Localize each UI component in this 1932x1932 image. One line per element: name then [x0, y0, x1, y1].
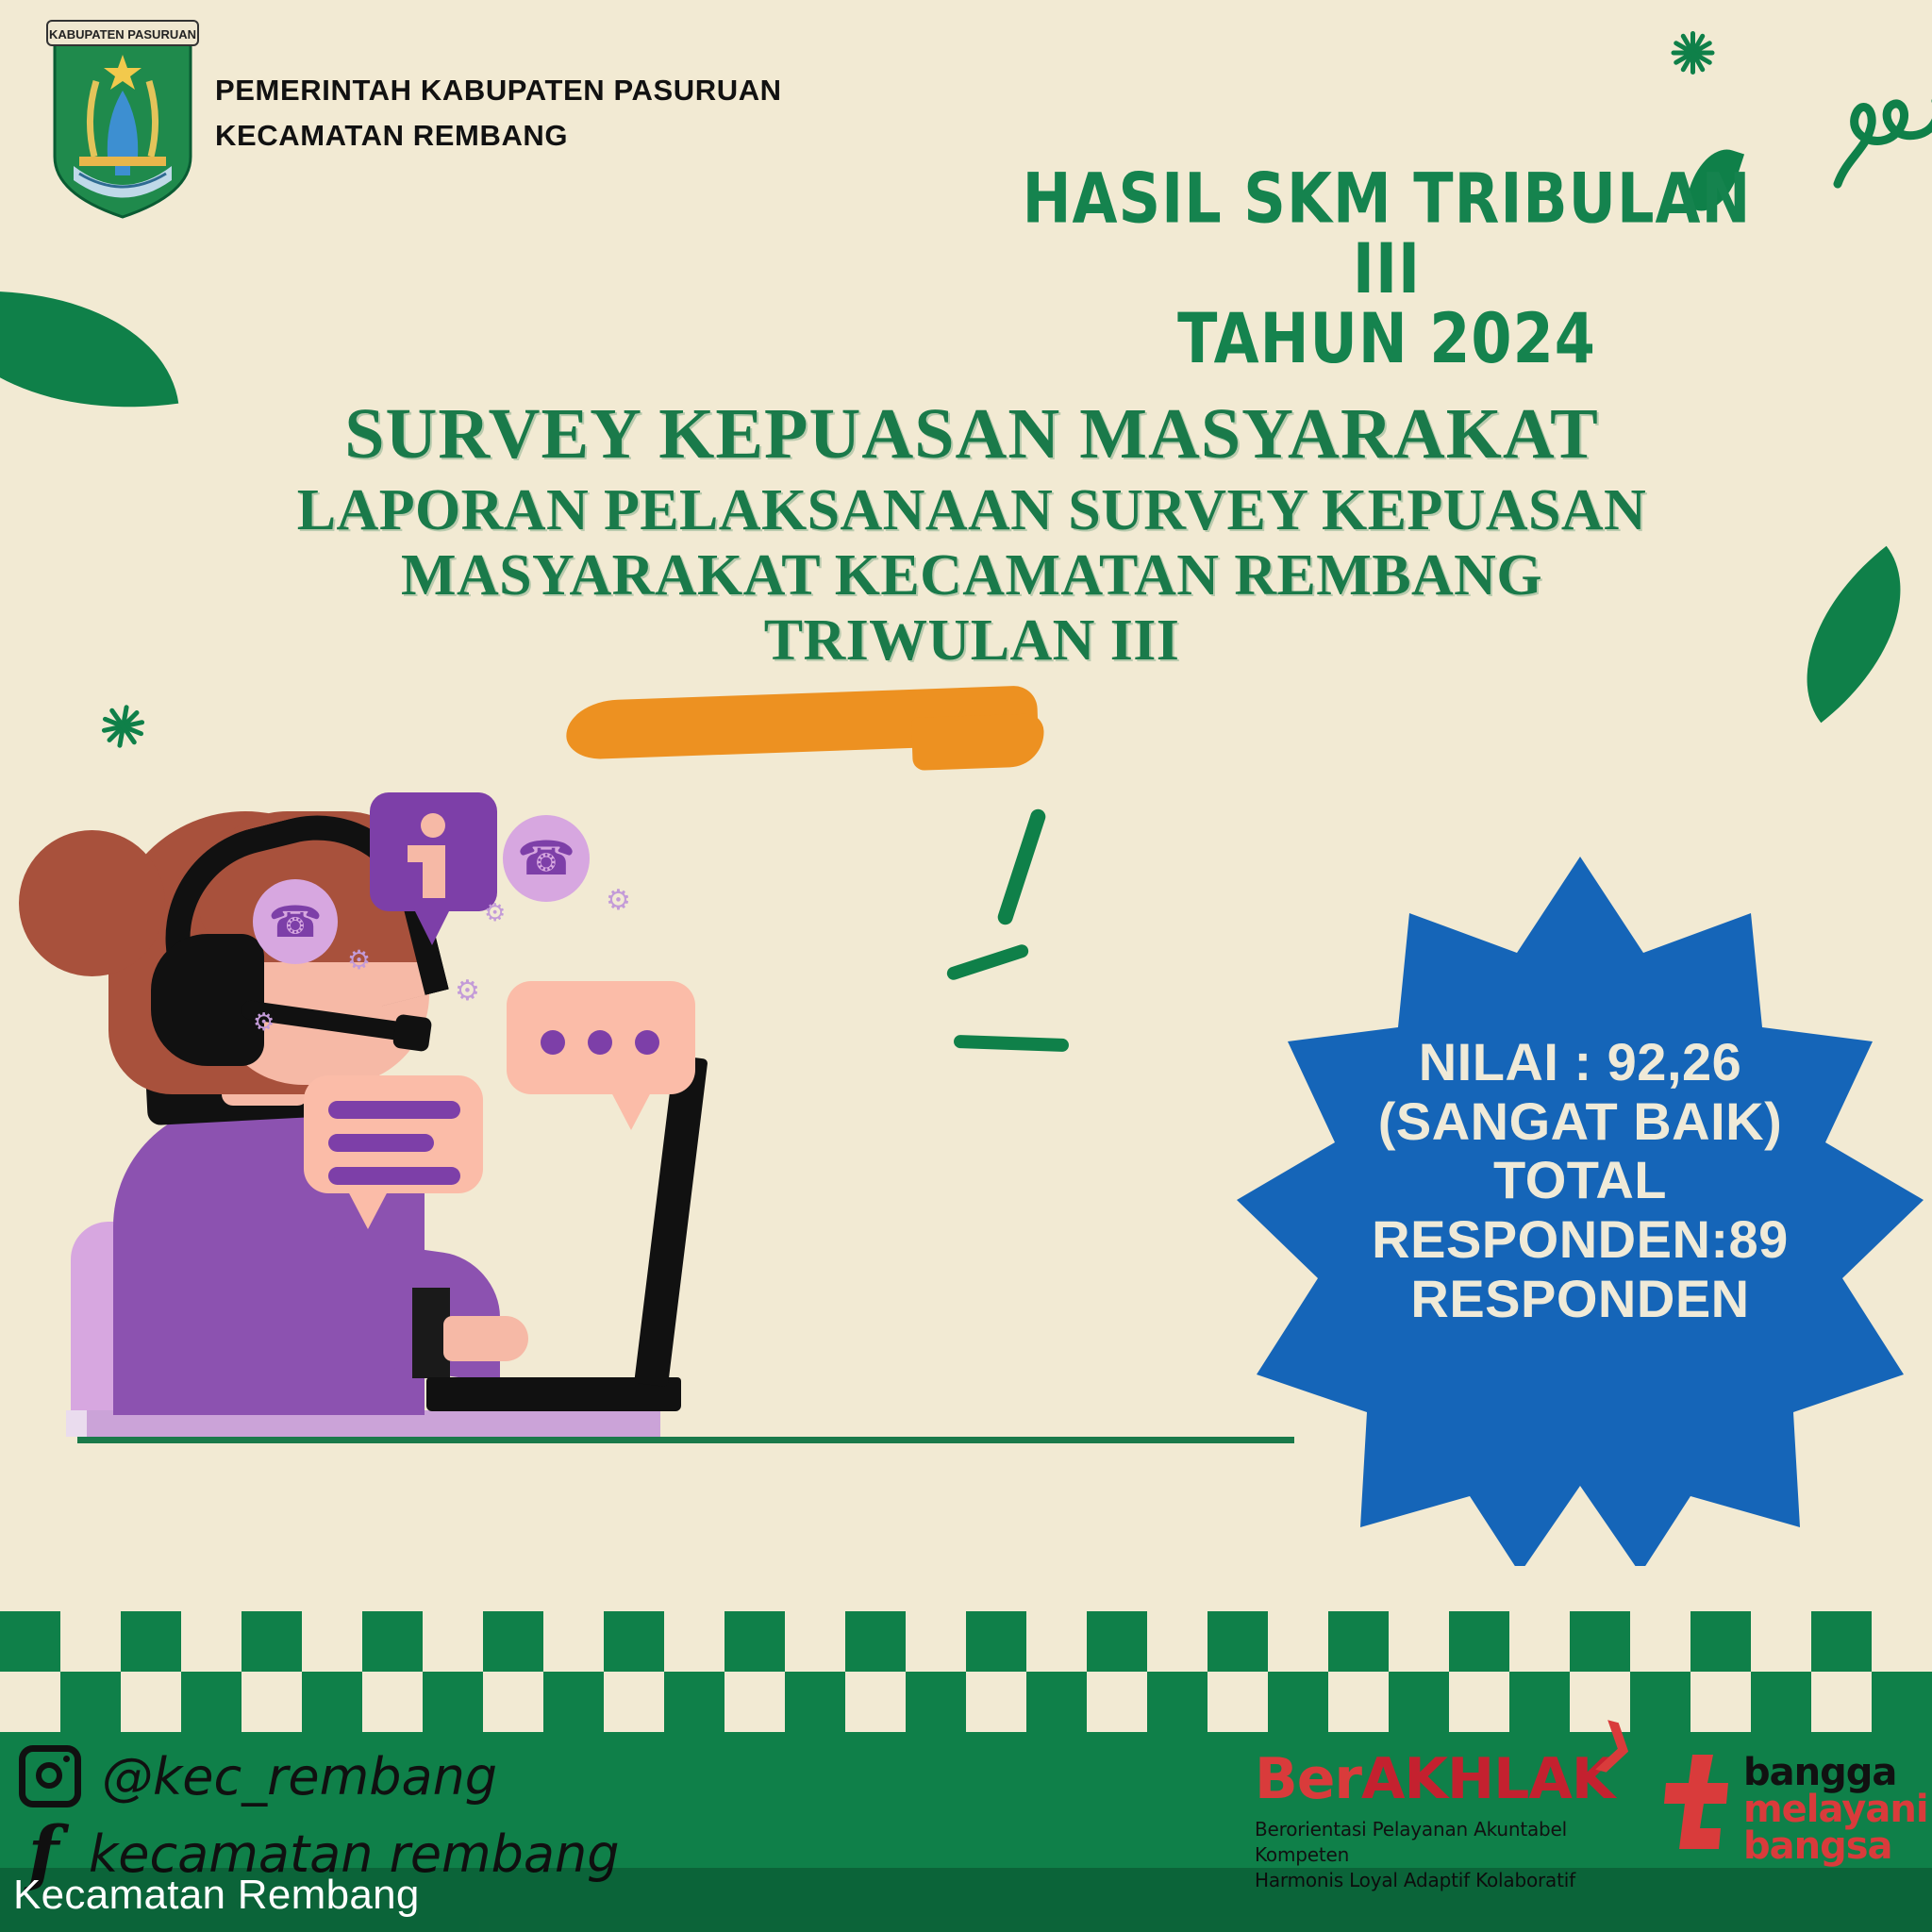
- checker-cell: [1751, 1672, 1811, 1732]
- checker-cell: [423, 1672, 483, 1732]
- checker-cell: [1026, 1611, 1087, 1672]
- checker-cell: [1207, 1611, 1268, 1672]
- svg-text:KABUPATEN PASURUAN: KABUPATEN PASURUAN: [49, 27, 196, 42]
- badge-line-1: NILAI : 92,26: [1307, 1033, 1854, 1092]
- title-sub-line-2: MASYARAKAT KECAMATAN REMBANG: [189, 543, 1755, 608]
- title-sub-line-3: TRIWULAN III: [189, 608, 1755, 674]
- checker-cell: [1328, 1672, 1389, 1732]
- phone-circle-icon-left: ☎: [253, 879, 338, 964]
- checker-cell: [1751, 1611, 1811, 1672]
- checker-cell: [483, 1672, 543, 1732]
- title-main: SURVEY KEPUASAN MASYARAKAT: [189, 396, 1755, 473]
- checker-cell: [423, 1611, 483, 1672]
- checker-cell: [906, 1611, 966, 1672]
- berakhlak-suffix: AKHLAK: [1361, 1746, 1614, 1812]
- government-name: PEMERINTAH KABUPATEN PASURUAN KECAMATAN …: [215, 68, 782, 158]
- checker-cell: [1630, 1611, 1690, 1672]
- squiggle-decoration-top-right: [1830, 90, 1932, 198]
- sparkle-icon-top-right: [1649, 9, 1736, 96]
- bangga-line-1: bangga: [1743, 1755, 1928, 1791]
- checker-cell: [604, 1611, 664, 1672]
- checker-cell: [664, 1672, 724, 1732]
- checker-cell: [1690, 1611, 1751, 1672]
- checker-cell: [60, 1611, 121, 1672]
- chat-dot: [541, 1030, 565, 1055]
- checker-cell: [1389, 1672, 1449, 1732]
- checker-cell: [1087, 1611, 1147, 1672]
- hasil-line-1: HASIL SKM TRIBULAN III: [1000, 163, 1774, 304]
- berakhlak-wordmark: BerAKHLAK ❯: [1255, 1751, 1623, 1807]
- bangga-wordmark: bangga melayani bangsa: [1743, 1755, 1928, 1864]
- instagram-row[interactable]: @kec_rembang: [19, 1745, 497, 1807]
- gear-icon: ⚙: [253, 1009, 275, 1034]
- checker-cell: [362, 1611, 423, 1672]
- bottom-caption: Kecamatan Rembang: [13, 1872, 420, 1919]
- berakhlak-tagline-line-1: Berorientasi Pelayanan Akuntabel Kompete…: [1255, 1817, 1623, 1868]
- info-dot: [421, 813, 445, 838]
- checker-cell: [966, 1672, 1026, 1732]
- checker-cell: [1207, 1672, 1268, 1732]
- checker-cell: [1509, 1611, 1570, 1672]
- checker-cell: [302, 1672, 362, 1732]
- orange-brush-underline: [565, 685, 1039, 759]
- checker-cell: [0, 1611, 60, 1672]
- chat-line: [328, 1101, 460, 1119]
- checker-cell: [362, 1672, 423, 1732]
- checker-cell: [302, 1611, 362, 1672]
- badge-line-2: (SANGAT BAIK): [1307, 1092, 1854, 1152]
- kabupaten-pasuruan-logo: KABUPATEN PASURUAN: [38, 15, 208, 223]
- checker-cell: [724, 1672, 785, 1732]
- checker-cell: [1449, 1672, 1509, 1732]
- checker-cell: [1268, 1672, 1328, 1732]
- checker-cell: [906, 1672, 966, 1732]
- checker-cell: [1268, 1611, 1328, 1672]
- info-stem: [423, 845, 445, 898]
- badge-line-4: RESPONDEN:89: [1307, 1210, 1854, 1270]
- headset-earcup-icon: [151, 934, 264, 1066]
- checker-cell: [966, 1611, 1026, 1672]
- phone-circle-icon-right: ☎: [503, 815, 590, 902]
- chat-line: [328, 1134, 434, 1152]
- operator-hand: [443, 1316, 528, 1361]
- checker-cell: [0, 1672, 60, 1732]
- operator-illustration: ☎ ☎ ⚙ ⚙ ⚙ ⚙ ⚙: [0, 792, 1321, 1396]
- checker-cell: [845, 1672, 906, 1732]
- checker-cell: [1509, 1672, 1570, 1732]
- checker-cell: [1087, 1672, 1147, 1732]
- checker-cell: [1811, 1672, 1872, 1732]
- checker-cell: [241, 1611, 302, 1672]
- leaf-decoration-top-left: [0, 263, 178, 435]
- checker-cell: [604, 1672, 664, 1732]
- phone-glyph: ☎: [517, 835, 575, 882]
- checker-cell: [1147, 1611, 1207, 1672]
- instagram-icon: [19, 1745, 81, 1807]
- checker-cell: [483, 1611, 543, 1672]
- checker-row: [0, 1672, 1932, 1732]
- checker-cell: [181, 1611, 241, 1672]
- badge-line-3: TOTAL: [1307, 1151, 1854, 1210]
- hasil-line-2: TAHUN 2024: [1000, 304, 1774, 375]
- page-title: SURVEY KEPUASAN MASYARAKAT LAPORAN PELAK…: [189, 396, 1755, 675]
- bangga-line-2: melayani: [1743, 1791, 1928, 1828]
- checker-cell: [1872, 1611, 1932, 1672]
- score-badge-text: NILAI : 92,26 (SANGAT BAIK) TOTAL RESPON…: [1307, 1033, 1854, 1329]
- operator-hair-bun: [19, 830, 165, 976]
- bangga-line-3: bangsa: [1743, 1828, 1928, 1865]
- score-badge: NILAI : 92,26 (SANGAT BAIK) TOTAL RESPON…: [1222, 849, 1932, 1566]
- checkered-band: [0, 1611, 1932, 1732]
- chat-lines-bubble-icon: [304, 1075, 483, 1193]
- checker-cell: [1690, 1672, 1751, 1732]
- checker-cell: [1811, 1611, 1872, 1672]
- checker-cell: [1570, 1611, 1630, 1672]
- chat-dot: [635, 1030, 659, 1055]
- checker-cell: [785, 1611, 845, 1672]
- checker-cell: [845, 1611, 906, 1672]
- checker-row: [0, 1611, 1932, 1672]
- checker-cell: [1449, 1611, 1509, 1672]
- checker-cell: [181, 1672, 241, 1732]
- checker-cell: [724, 1611, 785, 1672]
- instagram-handle: @kec_rembang: [102, 1747, 497, 1807]
- bangga-mark-icon: [1660, 1755, 1732, 1857]
- checker-cell: [1872, 1672, 1932, 1732]
- checker-cell: [1147, 1672, 1207, 1732]
- gear-icon: ⚙: [347, 947, 371, 974]
- checker-cell: [785, 1672, 845, 1732]
- bangga-melayani-bangsa-logo: bangga melayani bangsa: [1660, 1755, 1924, 1864]
- leaf-decoration-right: [1760, 546, 1932, 723]
- poster-canvas: KABUPATEN PASURUAN PEMERINTAH KABUPATEN …: [0, 0, 1932, 1932]
- title-subtitle: LAPORAN PELAKSANAAN SURVEY KEPUASAN MASY…: [189, 478, 1755, 675]
- checker-cell: [1389, 1611, 1449, 1672]
- checker-cell: [543, 1672, 604, 1732]
- checker-cell: [543, 1611, 604, 1672]
- desk-edge: [66, 1410, 87, 1437]
- hasil-skm-heading: HASIL SKM TRIBULAN III TAHUN 2024: [1000, 163, 1774, 375]
- chat-dot: [588, 1030, 612, 1055]
- checker-cell: [1026, 1672, 1087, 1732]
- berakhlak-prefix: Ber: [1255, 1746, 1361, 1812]
- title-sub-line-1: LAPORAN PELAKSANAAN SURVEY KEPUASAN: [189, 478, 1755, 543]
- checker-cell: [121, 1672, 181, 1732]
- checker-cell: [1328, 1611, 1389, 1672]
- checker-cell: [121, 1611, 181, 1672]
- gear-icon: ⚙: [484, 900, 506, 924]
- government-line-1: PEMERINTAH KABUPATEN PASURUAN: [215, 68, 782, 113]
- gear-icon: ⚙: [455, 977, 480, 1006]
- sparkle-icon-left: [79, 683, 166, 770]
- desk-green-line: [77, 1437, 1294, 1443]
- chat-line: [328, 1167, 460, 1185]
- phone-glyph: ☎: [268, 900, 322, 943]
- checker-cell: [664, 1611, 724, 1672]
- info-bubble-icon: [370, 792, 497, 911]
- gear-icon: ⚙: [606, 887, 631, 915]
- checker-cell: [241, 1672, 302, 1732]
- chat-dots-bubble-icon: [507, 981, 695, 1094]
- checker-cell: [60, 1672, 121, 1732]
- badge-line-5: RESPONDEN: [1307, 1270, 1854, 1329]
- government-line-2: KECAMATAN REMBANG: [215, 113, 782, 158]
